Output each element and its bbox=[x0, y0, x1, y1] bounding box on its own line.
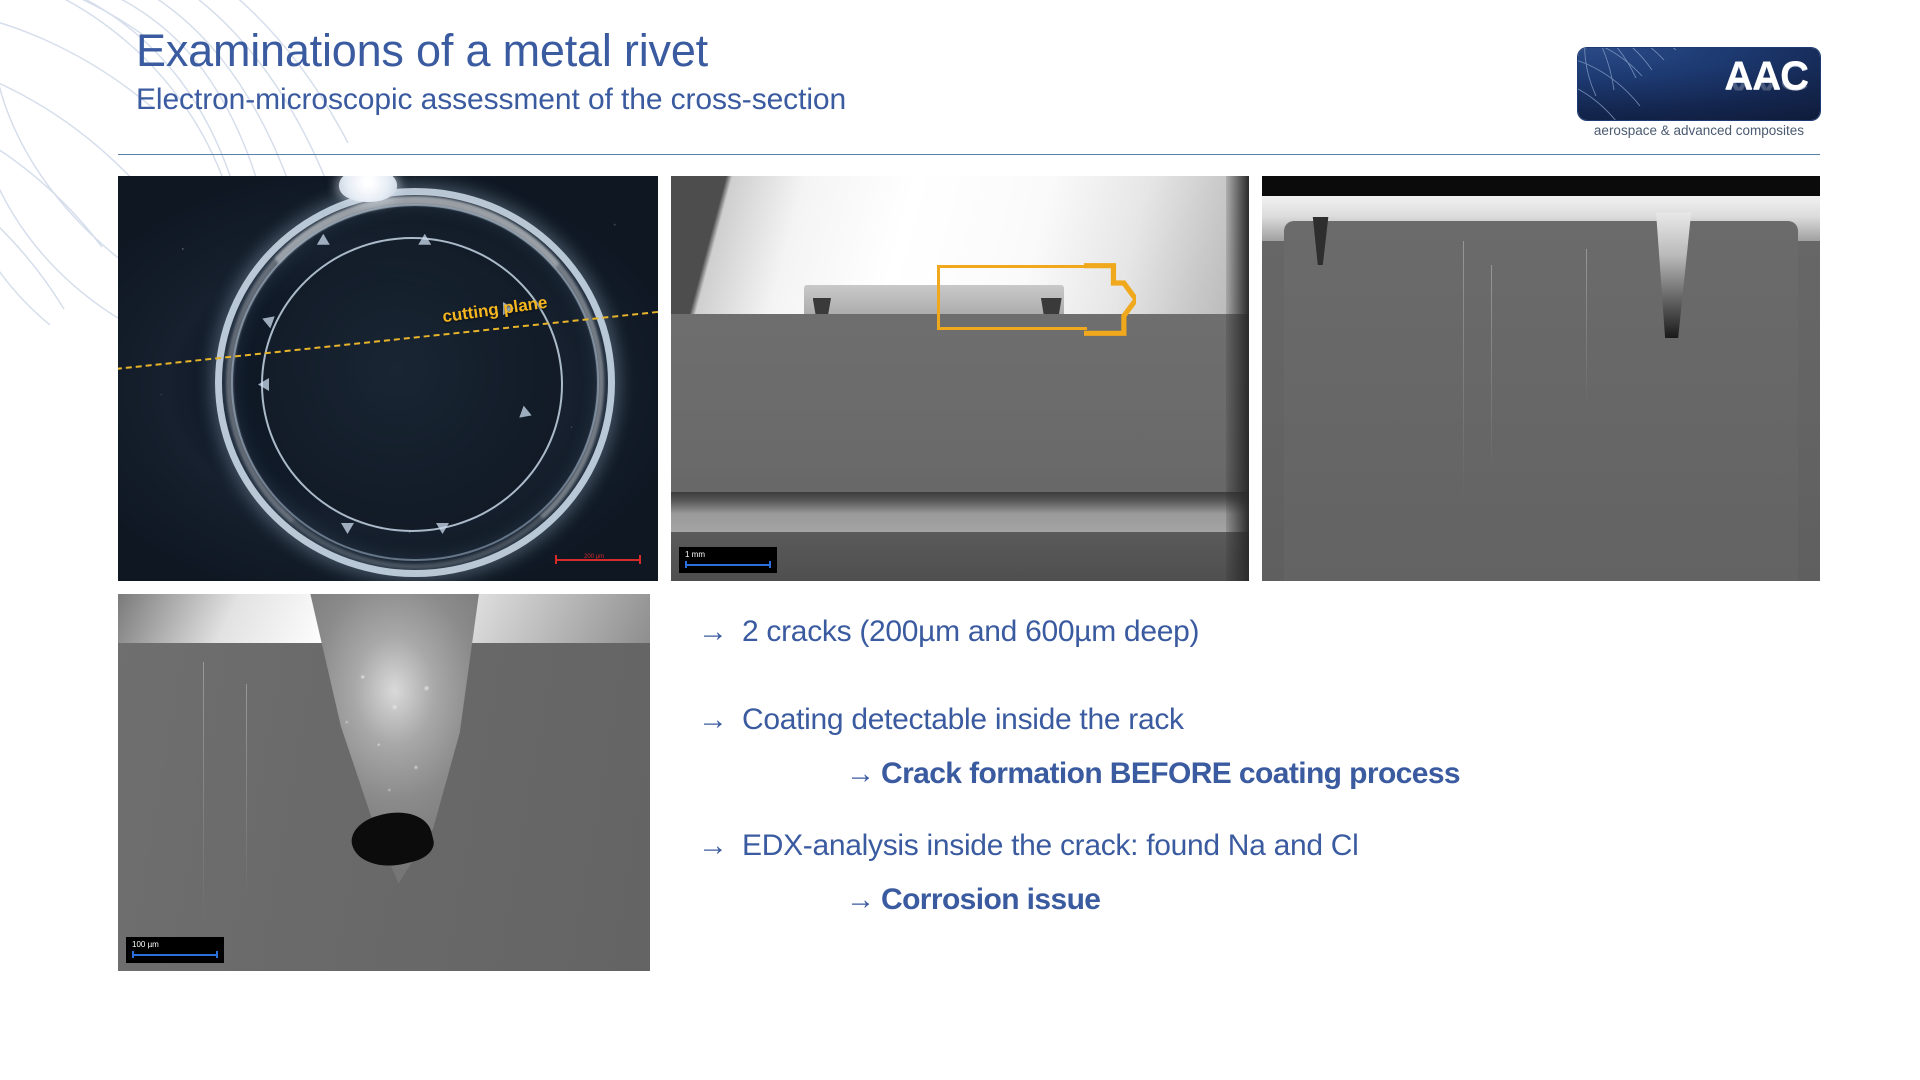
aac-logo: AAC AAC aerospace & advanced composites bbox=[1578, 48, 1820, 152]
finding-item-2: → Coating detectable inside the rack bbox=[698, 701, 1818, 739]
rivet-inner-ring bbox=[261, 237, 563, 533]
polishing-scratch bbox=[1491, 265, 1492, 476]
arrow-icon: → bbox=[846, 755, 875, 793]
logo-tagline: aerospace & advanced composites bbox=[1578, 123, 1820, 138]
callout-arrow-icon bbox=[1084, 259, 1136, 340]
slide-header: Examinations of a metal rivet Electron-m… bbox=[0, 0, 1920, 160]
figure-crack-detail bbox=[1262, 176, 1820, 581]
finding-item-1: → 2 cracks (200µm and 600µm deep) bbox=[698, 613, 1818, 651]
finding-text: 2 cracks (200µm and 600µm deep) bbox=[742, 613, 1199, 651]
arrow-icon: → bbox=[698, 701, 728, 739]
scale-bar-line bbox=[132, 951, 218, 958]
logo-wordmark-reflection: AAC bbox=[1724, 82, 1808, 94]
arrow-icon: → bbox=[698, 613, 728, 651]
ring-notch bbox=[519, 405, 534, 421]
scale-bar-line bbox=[685, 561, 771, 568]
specimen-slab bbox=[1284, 221, 1797, 581]
header-divider bbox=[118, 154, 1820, 155]
finding-text: EDX-analysis inside the crack: found Na … bbox=[742, 827, 1359, 865]
page-title: Examinations of a metal rivet bbox=[136, 27, 708, 74]
scale-bar-100um: 100 µm bbox=[126, 937, 224, 963]
polishing-scratch bbox=[1463, 241, 1464, 500]
arrow-icon: → bbox=[846, 881, 875, 919]
specimen-interface-strip bbox=[671, 492, 1249, 533]
figure-rivet-overview: cutting plane 200 µm bbox=[118, 176, 658, 581]
sem-micrograph-crack-detail bbox=[1262, 176, 1820, 581]
polishing-scratch bbox=[1586, 249, 1587, 411]
findings-list: → 2 cracks (200µm and 600µm deep) → Coat… bbox=[698, 613, 1818, 919]
finding-text: Corrosion issue bbox=[881, 881, 1100, 919]
page-subtitle: Electron-microscopic assessment of the c… bbox=[136, 83, 846, 116]
figure-crack-closeup: 100 µm bbox=[118, 594, 650, 971]
specimen-right-shadow bbox=[1226, 176, 1249, 581]
sem-micrograph-cross-section: 1 mm bbox=[671, 176, 1249, 581]
logo-plate: AAC AAC bbox=[1578, 48, 1820, 120]
finding-subitem-3a: → Corrosion issue bbox=[846, 881, 1818, 919]
finding-subitem-2a: → Crack formation BEFORE coating process bbox=[846, 755, 1818, 793]
scale-bar-label: 100 µm bbox=[132, 940, 218, 949]
bullet-group-gap bbox=[698, 793, 1818, 827]
scale-bar-label: 1 mm bbox=[685, 550, 771, 559]
finding-text: Coating detectable inside the rack bbox=[742, 701, 1184, 739]
polishing-scratch bbox=[203, 662, 204, 926]
bullet-group-gap bbox=[698, 667, 1818, 701]
figure-cross-section: 1 mm bbox=[671, 176, 1249, 581]
finding-item-3: → EDX-analysis inside the crack: found N… bbox=[698, 827, 1818, 865]
sem-micrograph-crack-closeup: 100 µm bbox=[118, 594, 650, 971]
polishing-scratch bbox=[246, 684, 247, 903]
crack-debris bbox=[118, 594, 650, 971]
callout-rectangle bbox=[937, 265, 1087, 330]
arrow-icon: → bbox=[698, 827, 728, 865]
logo-globe-icon bbox=[1578, 48, 1704, 120]
finding-text: Crack formation BEFORE coating process bbox=[881, 755, 1460, 793]
svg-text:200 µm: 200 µm bbox=[584, 554, 604, 560]
optical-micrograph-rivet: cutting plane 200 µm bbox=[118, 176, 658, 581]
scale-bar-1mm: 1 mm bbox=[679, 547, 777, 573]
scale-bar-red: 200 µm bbox=[554, 552, 642, 564]
